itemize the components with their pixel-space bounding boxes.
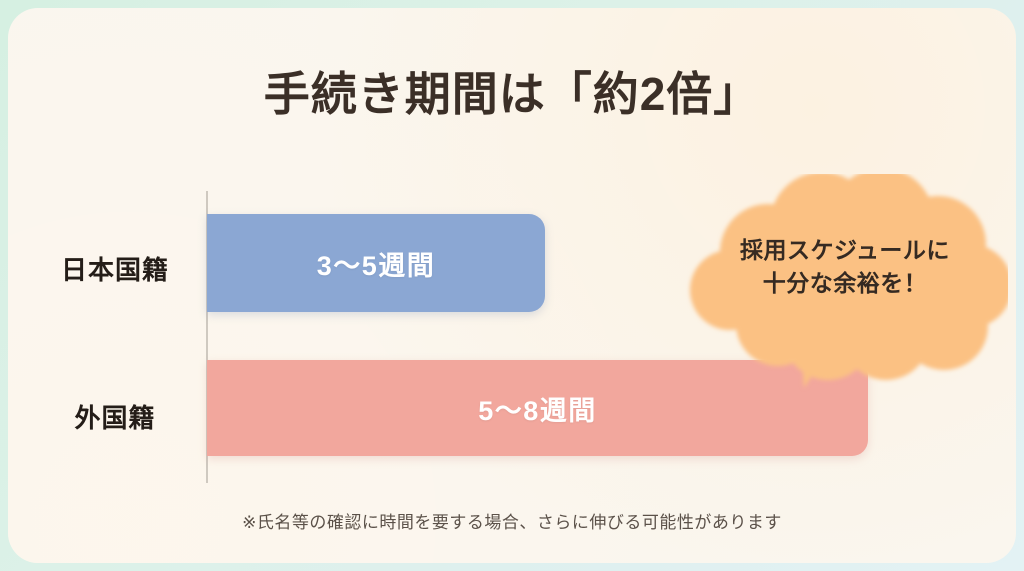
slide-frame: 手続き期間は「約2倍」 日本国籍 3〜5週間 外国籍 5〜8週間 bbox=[0, 0, 1024, 571]
cloud-callout: 採用スケジュールに 十分な余裕を！ bbox=[682, 174, 1008, 396]
callout-text: 採用スケジュールに 十分な余裕を！ bbox=[682, 234, 1008, 301]
footnote: ※氏名等の確認に時間を要する場合、さらに伸びる可能性があります bbox=[8, 508, 1016, 533]
callout-line-2: 十分な余裕を！ bbox=[682, 267, 1008, 300]
category-label-japanese: 日本国籍 bbox=[30, 250, 200, 287]
page-title: 手続き期間は「約2倍」 bbox=[8, 58, 1016, 124]
bar-value-japanese: 3〜5週間 bbox=[317, 244, 436, 283]
bar-value-foreign: 5〜8週間 bbox=[478, 389, 597, 428]
category-label-foreign: 外国籍 bbox=[30, 398, 200, 435]
bar-japanese: 3〜5週間 bbox=[207, 214, 545, 312]
callout-line-1: 採用スケジュールに bbox=[682, 234, 1008, 267]
slide-card: 手続き期間は「約2倍」 日本国籍 3〜5週間 外国籍 5〜8週間 bbox=[8, 8, 1016, 563]
